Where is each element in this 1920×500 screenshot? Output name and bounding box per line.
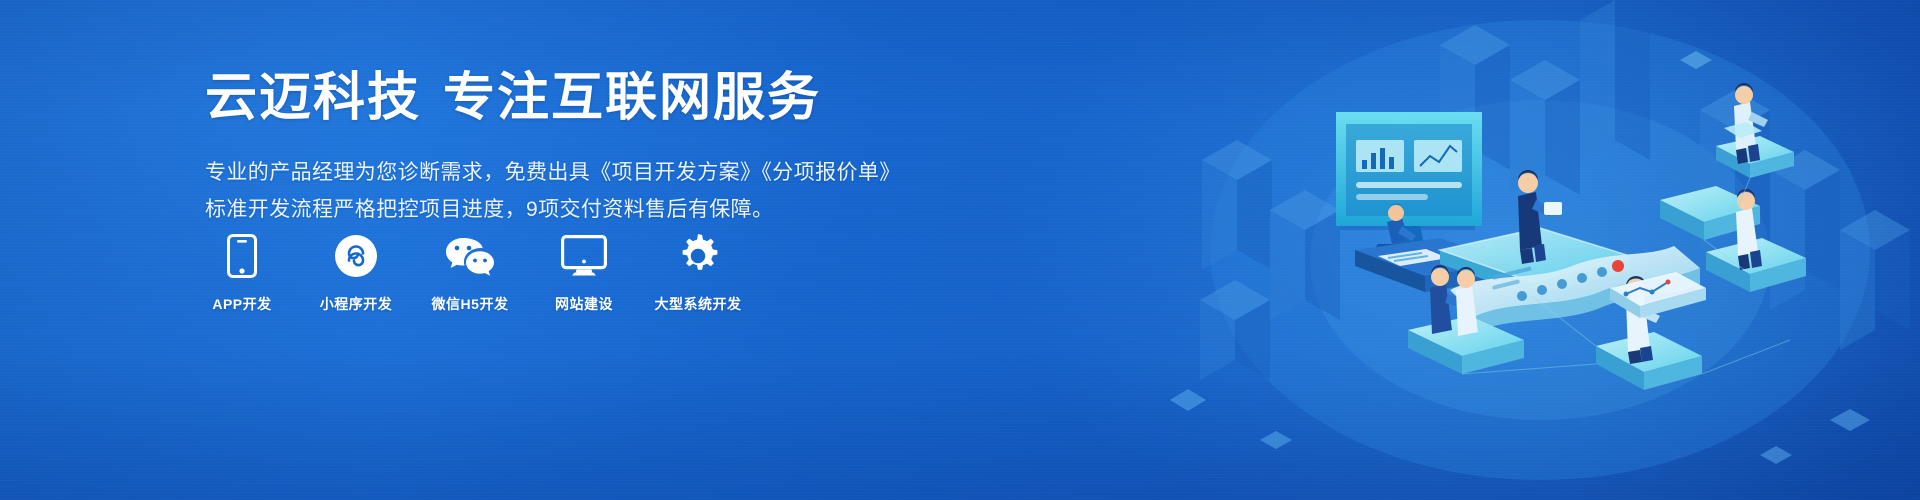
service-item-wechat[interactable]: 微信H5开发 [433, 232, 507, 314]
service-item-miniprogram[interactable]: 小程序开发 [319, 232, 393, 314]
hero-text-block: 云迈科技专注互联网服务 专业的产品经理为您诊断需求，免费出具《项目开发方案》《分… [205, 68, 945, 229]
subtitle-line-2: 标准开发流程严格把控项目进度，9项交付资料售后有保障。 [205, 192, 945, 229]
service-label: 大型系统开发 [655, 294, 742, 314]
mobile-phone-icon [227, 232, 257, 280]
service-label: 微信H5开发 [432, 294, 509, 314]
service-item-system[interactable]: 大型系统开发 [661, 232, 735, 314]
service-label: 网站建设 [555, 294, 613, 314]
gear-icon [676, 232, 720, 280]
page-title: 云迈科技专注互联网服务 [205, 68, 945, 129]
service-label: APP开发 [212, 294, 271, 314]
service-item-app[interactable]: APP开发 [205, 232, 279, 314]
hero-banner: 云迈科技专注互联网服务 专业的产品经理为您诊断需求，免费出具《项目开发方案》《分… [0, 0, 1920, 500]
subtitle-line-1: 专业的产品经理为您诊断需求，免费出具《项目开发方案》《分项报价单》 [205, 155, 945, 192]
mini-program-icon [334, 232, 378, 280]
service-item-website[interactable]: 网站建设 [547, 232, 621, 314]
service-label: 小程序开发 [320, 294, 393, 314]
service-list: APP开发 小程序开发 [205, 232, 735, 314]
wechat-icon [444, 232, 496, 280]
hero-subtitle: 专业的产品经理为您诊断需求，免费出具《项目开发方案》《分项报价单》 标准开发流程… [205, 155, 945, 229]
hero-illustration [1140, 0, 1920, 500]
headline-tagline: 专注互联网服务 [443, 69, 821, 127]
monitor-icon [561, 232, 607, 280]
headline-brand: 云迈科技 [205, 69, 421, 127]
